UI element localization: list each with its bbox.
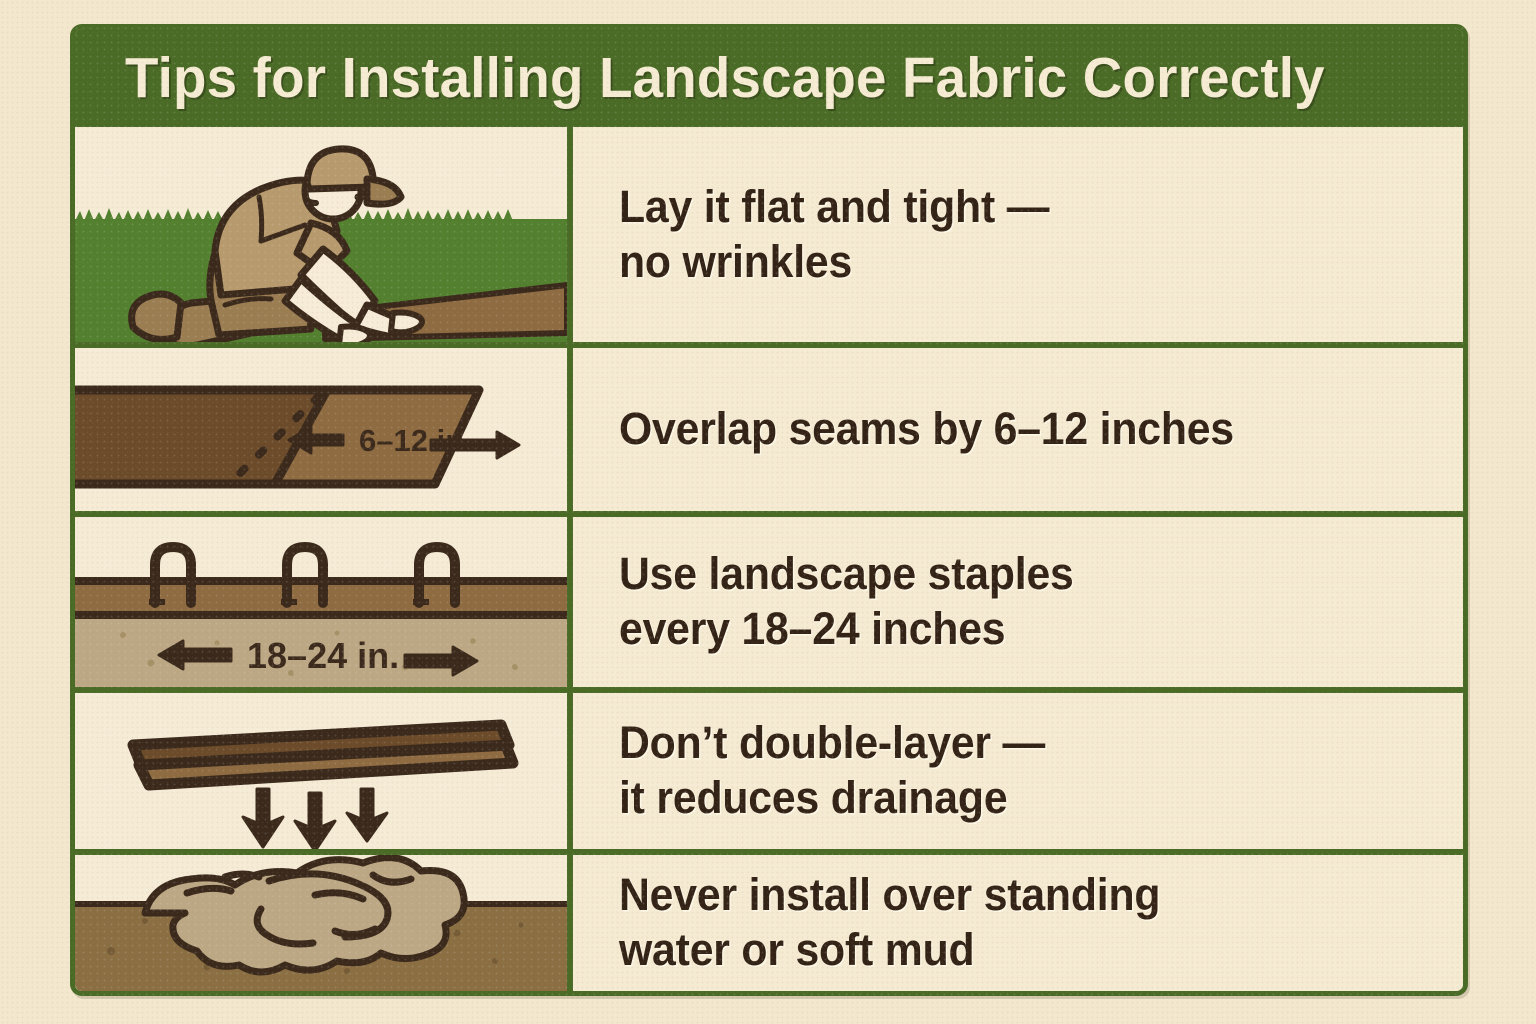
tip-text-cell: Lay it flat and tight — no wrinkles [573, 127, 1463, 342]
tip-text: Don’t double-layer — it reduces drainage [619, 716, 1045, 826]
double-layer-fabric-icon [75, 693, 567, 849]
tip-text-cell: Never install over standing water or sof… [573, 855, 1463, 991]
tips-list: Lay it flat and tight — no wrinkles [75, 127, 1463, 991]
mud-puddle-icon [75, 855, 567, 991]
dimension-label-staple-spacing: 18–24 in. [247, 635, 399, 676]
illustration-three-u-staples-through-fabric-into-soil: 18–24 in. [75, 517, 573, 687]
tip-text-cell: Use landscape staples every 18–24 inches [573, 517, 1463, 687]
illustration-worker-kneeling-laying-fabric-on-grass [75, 127, 573, 342]
tip-text: Lay it flat and tight — no wrinkles [619, 180, 1049, 290]
tip-text-cell: Overlap seams by 6–12 inches [573, 348, 1463, 511]
tip-text-line2: water or soft mud [619, 924, 974, 975]
tip-text-line1: Use landscape staples [619, 548, 1074, 599]
illustration-two-stacked-fabric-layers-with-blocked-drainage-arrows [75, 693, 573, 849]
tip-text-line2: no wrinkles [619, 236, 852, 287]
tip-text-cell: Don’t double-layer — it reduces drainage [573, 693, 1463, 849]
tip-text: Overlap seams by 6–12 inches [619, 402, 1234, 457]
tip-text-line2: every 18–24 inches [619, 603, 1005, 654]
dimension-label-overlap: 6–12 in. [359, 423, 473, 458]
poster-header: Tips for Installing Landscape Fabric Cor… [75, 29, 1463, 127]
landscape-staples-icon: 18–24 in. [75, 517, 567, 687]
tip-text-line1: Overlap seams by 6–12 inches [619, 403, 1234, 454]
tip-row-staple-spacing: 18–24 in. Use landscape staples every 18… [75, 517, 1463, 693]
page-title: Tips for Installing Landscape Fabric Cor… [125, 45, 1325, 111]
tip-row-no-double-layer: Don’t double-layer — it reduces drainage [75, 693, 1463, 855]
tip-row-overlap-seams: 6–12 in. Overlap seams by 6–12 inches [75, 348, 1463, 517]
tip-text-line1: Lay it flat and tight — [619, 181, 1049, 232]
overlap-seam-icon: 6–12 in. [75, 348, 567, 511]
tip-text-line1: Don’t double-layer — [619, 717, 1045, 768]
tip-text: Never install over standing water or sof… [619, 868, 1160, 978]
illustration-two-fabric-strips-overlapping-with-dashed-seam: 6–12 in. [75, 348, 573, 511]
infographic-poster: Tips for Installing Landscape Fabric Cor… [70, 24, 1468, 996]
tip-text-line1: Never install over standing [619, 869, 1160, 920]
tip-text-line2: it reduces drainage [619, 772, 1007, 823]
illustration-muddy-puddle-depression-in-soil [75, 855, 573, 991]
tip-text: Use landscape staples every 18–24 inches [619, 547, 1074, 657]
tip-row-lay-flat: Lay it flat and tight — no wrinkles [75, 127, 1463, 348]
worker-kneeling-icon [75, 127, 567, 342]
tip-row-no-standing-water: Never install over standing water or sof… [75, 855, 1463, 991]
